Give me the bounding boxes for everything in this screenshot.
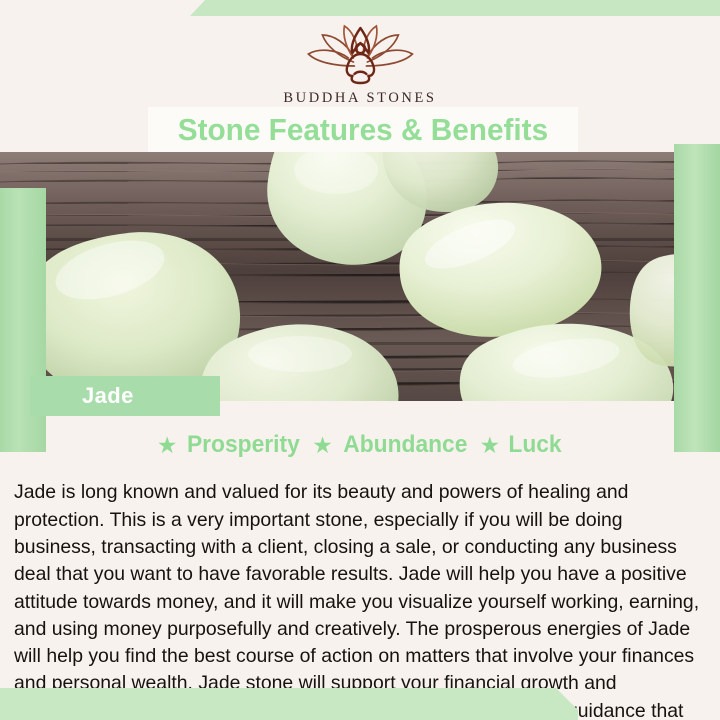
star-icon: ★ xyxy=(157,434,178,457)
title-banner: Stone Features & Benefits xyxy=(148,107,578,152)
benefit-label: Prosperity xyxy=(187,431,300,459)
stone-name: Jade xyxy=(82,383,134,409)
stone-photo xyxy=(0,152,720,401)
benefit-label: Luck xyxy=(509,431,562,459)
lotus-meditation-icon xyxy=(294,22,426,88)
stone-description: Jade is long known and valued for its be… xyxy=(14,479,706,720)
benefit-label: Abundance xyxy=(343,431,467,459)
infographic-page: BUDDHA STONES Stone Features & Benefits xyxy=(0,0,720,720)
top-accent-band xyxy=(0,0,720,16)
benefits-row: ★ Prosperity ★ Abundance ★ Luck xyxy=(0,429,720,461)
brand-logo: BUDDHA STONES xyxy=(283,22,436,107)
benefit-item-luck: ★ Luck xyxy=(480,431,564,459)
benefit-item-abundance: ★ Abundance xyxy=(312,431,470,459)
brand-name: BUDDHA STONES xyxy=(283,90,436,107)
page-title: Stone Features & Benefits xyxy=(178,112,548,148)
star-icon: ★ xyxy=(480,434,501,457)
star-icon: ★ xyxy=(312,434,333,457)
stone-name-band: Jade xyxy=(30,376,220,416)
right-accent-bar xyxy=(674,144,720,452)
brand-header: BUDDHA STONES xyxy=(0,16,720,108)
benefit-item-prosperity: ★ Prosperity xyxy=(157,431,303,459)
